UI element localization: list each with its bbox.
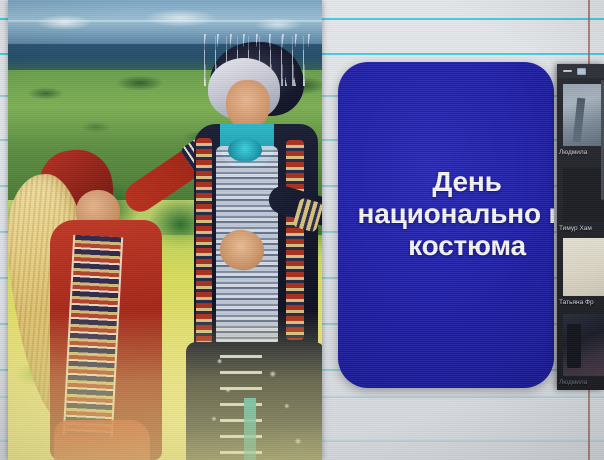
participant-name: Татьяна Фр: [559, 298, 604, 307]
participant-video-thumbnail[interactable]: [563, 238, 604, 296]
pink-blossoms: [34, 450, 120, 460]
participant-name: Людмила: [559, 378, 604, 387]
participant-video-thumbnail[interactable]: [563, 168, 604, 222]
list-item[interactable]: Людмила: [557, 80, 604, 162]
photo-seam: [8, 20, 322, 22]
participant-video-thumbnail[interactable]: [563, 314, 604, 376]
list-item[interactable]: Тимур Хам: [557, 164, 604, 240]
costumed-figure-right: [176, 42, 322, 460]
list-item[interactable]: Татьяна Фр: [557, 236, 604, 316]
coat-trim-right: [286, 140, 304, 340]
coat-embroidery: [63, 235, 123, 437]
window-controls: [557, 64, 604, 78]
video-conference-participants-panel[interactable]: Людмила Тимур Хам Татьяна Фр Людмила: [557, 64, 604, 390]
participant-video-thumbnail[interactable]: [563, 84, 604, 146]
costumed-figure-left: [16, 150, 176, 460]
participant-name: Тимур Хам: [559, 224, 604, 233]
face: [226, 80, 270, 130]
minimize-icon[interactable]: [563, 70, 572, 72]
coat-trim-left: [196, 138, 212, 344]
maximize-icon[interactable]: [577, 68, 586, 75]
title-card: День национально го костюма: [338, 62, 554, 388]
dress-teal-panel: [244, 398, 256, 460]
turquoise-pendant: [228, 138, 262, 162]
list-item[interactable]: Людмила: [557, 312, 604, 390]
participant-name: Людмила: [559, 148, 604, 157]
costume-photo-slide: [8, 0, 322, 460]
page-title: День национально го костюма: [352, 166, 554, 262]
